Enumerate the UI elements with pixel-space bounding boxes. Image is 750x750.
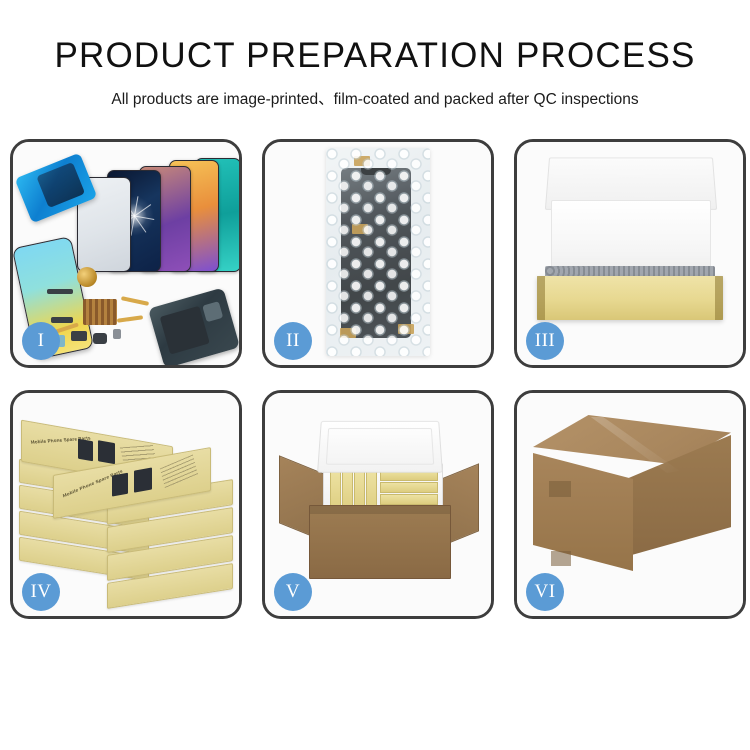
- sealed-carton: [533, 415, 731, 595]
- speaker-coil-part: [77, 267, 97, 287]
- vibrator-part: [113, 329, 121, 339]
- tape-patch-upper: [549, 481, 571, 497]
- step-badge-4: IV: [22, 573, 60, 611]
- process-step-panel-6: VI: [514, 390, 746, 619]
- open-mailer-box: [537, 156, 723, 334]
- step-badge-3: III: [526, 322, 564, 360]
- camera-module-part: [71, 331, 87, 341]
- page-header: PRODUCT PREPARATION PROCESS All products…: [0, 0, 750, 109]
- page-title: PRODUCT PREPARATION PROCESS: [0, 38, 750, 75]
- process-step-panel-1: I: [10, 139, 242, 368]
- tape-patch-lower: [551, 551, 571, 566]
- phone-screen-fan: [77, 152, 237, 272]
- box-thumb-front-2: [134, 467, 152, 492]
- flex-cable-3: [117, 315, 143, 323]
- box-corner-left: [537, 276, 545, 320]
- yellow-box-body: [537, 276, 723, 320]
- process-step-panel-2: II: [262, 139, 494, 368]
- carton-front-face: [533, 453, 633, 571]
- process-step-panel-5: V: [262, 390, 494, 619]
- box-corner-right: [715, 276, 723, 320]
- flex-cable-2: [121, 296, 149, 306]
- process-step-panel-3: III: [514, 139, 746, 368]
- open-shipping-carton: [279, 417, 479, 587]
- button-part: [93, 333, 107, 344]
- page-subtitle: All products are image-printed、film-coat…: [0, 87, 750, 109]
- bubble-wrap-bag: [326, 148, 430, 356]
- step-badge-6: VI: [526, 573, 564, 611]
- chip-array-part: [83, 299, 117, 325]
- yellow-box-h2: [380, 482, 438, 493]
- step-badge-2: II: [274, 322, 312, 360]
- box-thumb-front-1: [112, 473, 128, 497]
- box-feature-list-front: [160, 454, 198, 488]
- process-step-panel-4: Mobile Phone Spare Parts Mobile Phone Sp…: [10, 390, 242, 619]
- step-badge-5: V: [274, 573, 312, 611]
- foam-box-lid: [317, 421, 443, 473]
- earpiece-part: [47, 289, 73, 294]
- product-preparation-page: PRODUCT PREPARATION PROCESS All products…: [0, 0, 750, 750]
- yellow-box-h3: [380, 494, 438, 505]
- small-components-group: [47, 283, 167, 361]
- box-thumb-back-1: [78, 439, 93, 462]
- bubble-texture: [326, 148, 430, 356]
- step-badge-1: I: [22, 322, 60, 360]
- connector-part: [51, 317, 73, 323]
- process-step-grid: I II: [10, 139, 743, 619]
- carton-body: [309, 505, 451, 579]
- box-thumb-back-2: [98, 440, 115, 464]
